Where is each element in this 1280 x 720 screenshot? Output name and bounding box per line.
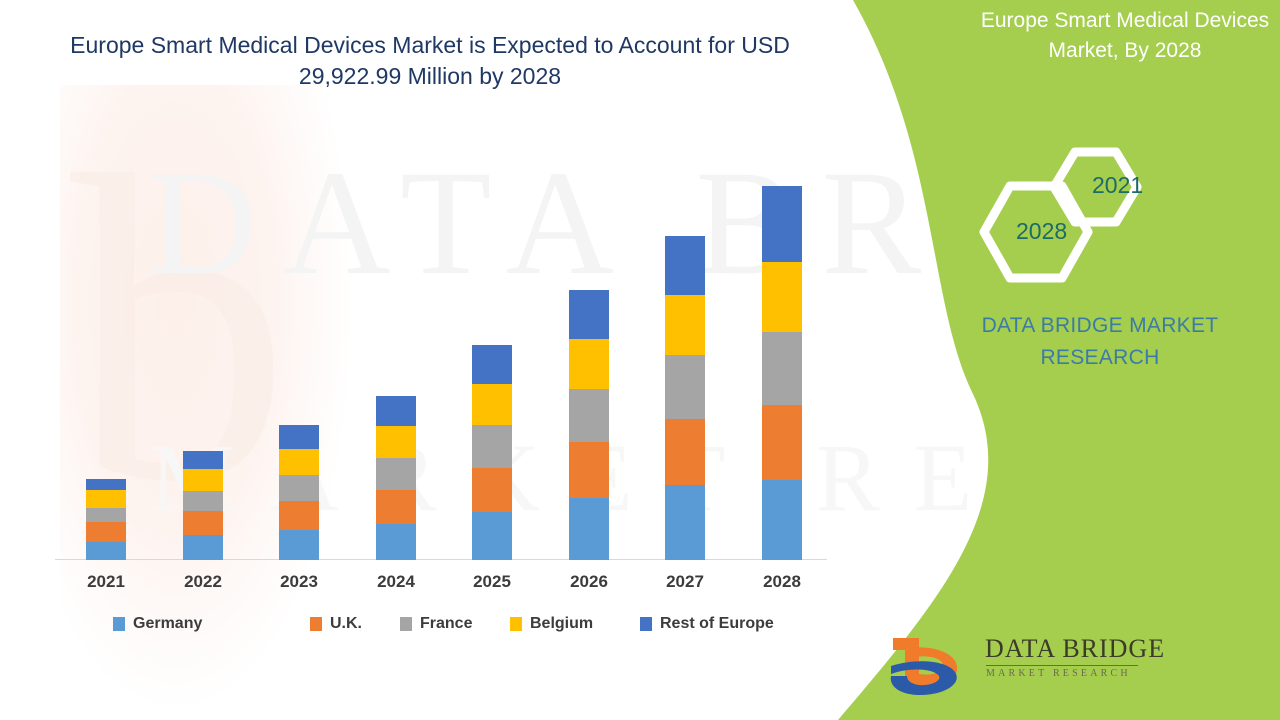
chart-legend: GermanyU.K.FranceBelgiumRest of Europe: [55, 615, 835, 643]
bar-segment-2022-u-k[interactable]: [183, 511, 223, 535]
bar-segment-2027-france[interactable]: [665, 355, 705, 419]
bar-segment-2021-belgium[interactable]: [86, 490, 126, 508]
hexagon-badges: 2021 2028: [820, 0, 1280, 720]
bar-2025[interactable]: [472, 345, 512, 560]
legend-item-rest-of-europe[interactable]: Rest of Europe: [640, 615, 774, 633]
bar-segment-2028-rest-of-europe[interactable]: [762, 186, 802, 262]
green-panel-shape: [820, 0, 1280, 720]
brand-name: DATA BRIDGE MARKET RESEARCH: [940, 310, 1260, 373]
bar-segment-2021-germany[interactable]: [86, 542, 126, 560]
x-axis-label-2023: 2023: [254, 572, 344, 592]
x-axis-label-2028: 2028: [737, 572, 827, 592]
logo-wordmark: DATA BRIDGE: [985, 634, 1165, 664]
bar-segment-2027-belgium[interactable]: [665, 295, 705, 355]
legend-swatch-icon: [640, 617, 652, 631]
x-axis-label-2021: 2021: [61, 572, 151, 592]
x-axis-label-2024: 2024: [351, 572, 441, 592]
bar-segment-2022-belgium[interactable]: [183, 469, 223, 491]
bar-segment-2021-u-k[interactable]: [86, 522, 126, 542]
bar-segment-2027-germany[interactable]: [665, 485, 705, 560]
legend-item-germany[interactable]: Germany: [113, 615, 202, 633]
logo-divider: [986, 665, 1138, 666]
legend-label: France: [420, 615, 472, 633]
legend-swatch-icon: [400, 617, 412, 631]
bar-segment-2028-belgium[interactable]: [762, 262, 802, 332]
x-axis-label-2027: 2027: [640, 572, 730, 592]
bar-2026[interactable]: [569, 290, 609, 560]
logo-mark-icon: [885, 632, 980, 698]
bar-segment-2024-rest-of-europe[interactable]: [376, 396, 416, 426]
bar-segment-2026-rest-of-europe[interactable]: [569, 290, 609, 339]
bar-2023[interactable]: [279, 425, 319, 560]
bar-segment-2025-u-k[interactable]: [472, 468, 512, 512]
legend-swatch-icon: [510, 617, 522, 631]
bar-segment-2023-rest-of-europe[interactable]: [279, 425, 319, 449]
bar-segment-2025-france[interactable]: [472, 425, 512, 468]
bar-segment-2021-france[interactable]: [86, 508, 126, 522]
bar-2024[interactable]: [376, 396, 416, 560]
x-axis-labels: 20212022202320242025202620272028: [55, 572, 827, 602]
bar-segment-2024-belgium[interactable]: [376, 426, 416, 458]
hexagon-2028-outline: [984, 186, 1088, 278]
legend-label: Germany: [133, 615, 202, 633]
bar-segment-2025-rest-of-europe[interactable]: [472, 345, 512, 384]
legend-item-belgium[interactable]: Belgium: [510, 615, 593, 633]
bar-2021[interactable]: [86, 479, 126, 560]
bar-segment-2023-germany[interactable]: [279, 530, 319, 560]
bar-segment-2025-belgium[interactable]: [472, 384, 512, 425]
bar-segment-2022-rest-of-europe[interactable]: [183, 451, 223, 469]
panel-title: Europe Smart Medical Devices Market, By …: [980, 6, 1270, 67]
bar-segment-2027-u-k[interactable]: [665, 419, 705, 485]
company-logo: DATA BRIDGE MARKET RESEARCH: [885, 630, 1145, 700]
bar-segment-2026-germany[interactable]: [569, 498, 609, 560]
legend-item-u-k[interactable]: U.K.: [310, 615, 362, 633]
brand-panel: Europe Smart Medical Devices Market, By …: [820, 0, 1280, 720]
bar-segment-2021-rest-of-europe[interactable]: [86, 479, 126, 490]
x-axis-label-2026: 2026: [544, 572, 634, 592]
legend-label: Belgium: [530, 615, 593, 633]
bar-segment-2026-france[interactable]: [569, 389, 609, 442]
bars-layer: [55, 119, 827, 560]
bar-segment-2024-germany[interactable]: [376, 524, 416, 560]
x-axis-label-2022: 2022: [158, 572, 248, 592]
bar-segment-2023-france[interactable]: [279, 475, 319, 501]
legend-label: Rest of Europe: [660, 615, 774, 633]
hexagon-2028-label: 2028: [1016, 218, 1067, 245]
legend-item-france[interactable]: France: [400, 615, 472, 633]
bar-segment-2023-u-k[interactable]: [279, 501, 319, 530]
x-axis-label-2025: 2025: [447, 572, 537, 592]
infographic-canvas: b DATA BRIDGE MARKET RESEARCH Europe Sma…: [0, 0, 1280, 720]
bar-segment-2023-belgium[interactable]: [279, 449, 319, 475]
bar-2028[interactable]: [762, 186, 802, 560]
bar-segment-2024-u-k[interactable]: [376, 490, 416, 524]
bar-segment-2022-germany[interactable]: [183, 535, 223, 560]
chart-panel: Europe Smart Medical Devices Market is E…: [0, 0, 860, 720]
bar-segment-2028-france[interactable]: [762, 332, 802, 405]
logo-subtitle: MARKET RESEARCH: [986, 668, 1142, 679]
hexagon-2021-outline: [1054, 152, 1137, 222]
bar-segment-2028-u-k[interactable]: [762, 405, 802, 480]
hexagon-2021-label: 2021: [1092, 172, 1143, 199]
bar-segment-2028-germany[interactable]: [762, 480, 802, 560]
legend-swatch-icon: [113, 617, 125, 631]
bar-segment-2026-u-k[interactable]: [569, 442, 609, 498]
bar-2027[interactable]: [665, 236, 705, 560]
legend-label: U.K.: [330, 615, 362, 633]
bar-segment-2026-belgium[interactable]: [569, 339, 609, 389]
bar-segment-2025-germany[interactable]: [472, 512, 512, 560]
bar-segment-2022-france[interactable]: [183, 491, 223, 511]
bar-segment-2024-france[interactable]: [376, 458, 416, 490]
bar-2022[interactable]: [183, 451, 223, 560]
legend-swatch-icon: [310, 617, 322, 631]
chart-title: Europe Smart Medical Devices Market is E…: [60, 30, 800, 92]
bar-segment-2027-rest-of-europe[interactable]: [665, 236, 705, 295]
